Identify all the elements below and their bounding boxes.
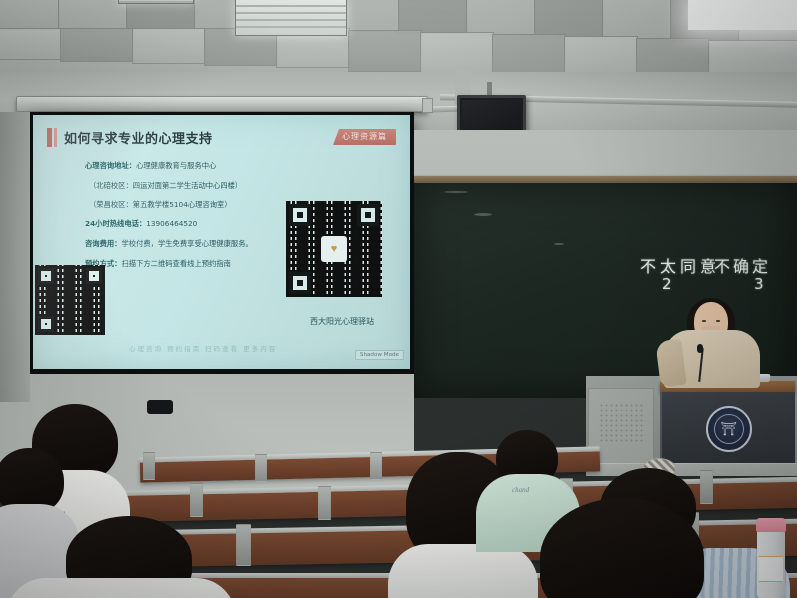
qr-code-secondary [35,265,105,335]
microphone-icon[interactable] [697,344,703,353]
ceiling-light-1 [118,0,194,4]
university-emblem: ⛩ [706,406,752,452]
presentation-slide: 如何寻求专业的心理支持 心理资源篇 心理咨询地址：心理健康教育与服务中心 （北碚… [33,115,410,369]
bench-post [143,452,155,480]
slide-line-hotline: 24小时热线电话：13906464520 [85,220,285,228]
chalk-text-disagree: 不太同意 [640,253,720,277]
presenter [650,300,770,386]
tv-mount-bracket [487,82,492,96]
slide-line-booking: 预约方式：扫描下方二维码查看线上预约指南 [85,260,285,268]
qr-code-main: ♥ [286,201,382,297]
ceiling-tile-grid [0,0,797,78]
podium-base-rail [586,463,797,476]
bench-post [370,452,382,480]
slide-title: 如何寻求专业的心理支持 [64,128,213,147]
student-cardigan [388,544,538,598]
slide-body-text: 心理咨询地址：心理健康教育与服务中心 （北碚校区：四运对面第二学生活动中心四楼）… [85,162,285,280]
projector-screen-housing[interactable] [16,96,428,112]
bottle-cap [756,518,786,532]
student-knit [6,578,236,598]
chalkboard-rail [414,176,797,183]
chalk-text-unsure: 不确定 [714,253,771,277]
ceiling [0,0,797,78]
shadow-mode-watermark: Shadow Mode [355,350,404,360]
bench-post [236,524,251,566]
chalk-number-2: 2 [662,275,672,293]
heart-icon: ♥ [321,236,347,262]
presenter-eye-left [702,320,706,322]
slide-faint-text: 心理咨询 预约指南 扫码查看 更多内容 [129,343,277,353]
slide-footer-org: 西大阳光心理驿站 [310,316,374,327]
podium-front-panel: ⛩ [660,392,795,466]
left-wall-edge [0,112,30,402]
bench-post [190,483,203,517]
chalk-number-3: 3 [754,275,764,293]
ceiling-speaker [147,400,173,414]
hoodie-print: chand [512,486,529,494]
ceiling-light-2 [235,0,347,36]
slide-section-badge: 心理资源篇 [333,129,396,145]
water-bottle[interactable] [757,528,785,598]
projection-screen[interactable]: 如何寻求专业的心理支持 心理资源篇 心理咨询地址：心理健康教育与服务中心 （北碚… [29,112,414,374]
slide-line-campus-rongchang: （荣昌校区：第五教学楼5104心理咨询室） [85,201,285,209]
emblem-inner-glyph: ⛩ [714,414,744,444]
slide-title-group: 如何寻求专业的心理支持 [47,128,213,147]
presenter-eye-right [716,320,720,322]
bench-post [255,454,267,482]
speaker-grille [599,403,643,443]
bottle-label [759,556,783,582]
bench-post [318,486,331,520]
slide-line-address: 心理咨询地址：心理健康教育与服务中心 [85,162,285,170]
title-accent-bars [47,128,57,147]
slide-line-campus-beibei: （北碚校区：四运对面第二学生活动中心四楼） [85,182,285,190]
ceiling-light-3 [688,0,797,30]
slide-line-fee: 咨询费用：学校付费，学生免费享受心理健康服务。 [85,240,285,248]
bench-post [700,470,713,504]
lecture-hall-scene: 如何寻求专业的心理支持 心理资源篇 心理咨询地址：心理健康教育与服务中心 （北碚… [0,0,797,598]
presenter-arm [655,339,686,388]
